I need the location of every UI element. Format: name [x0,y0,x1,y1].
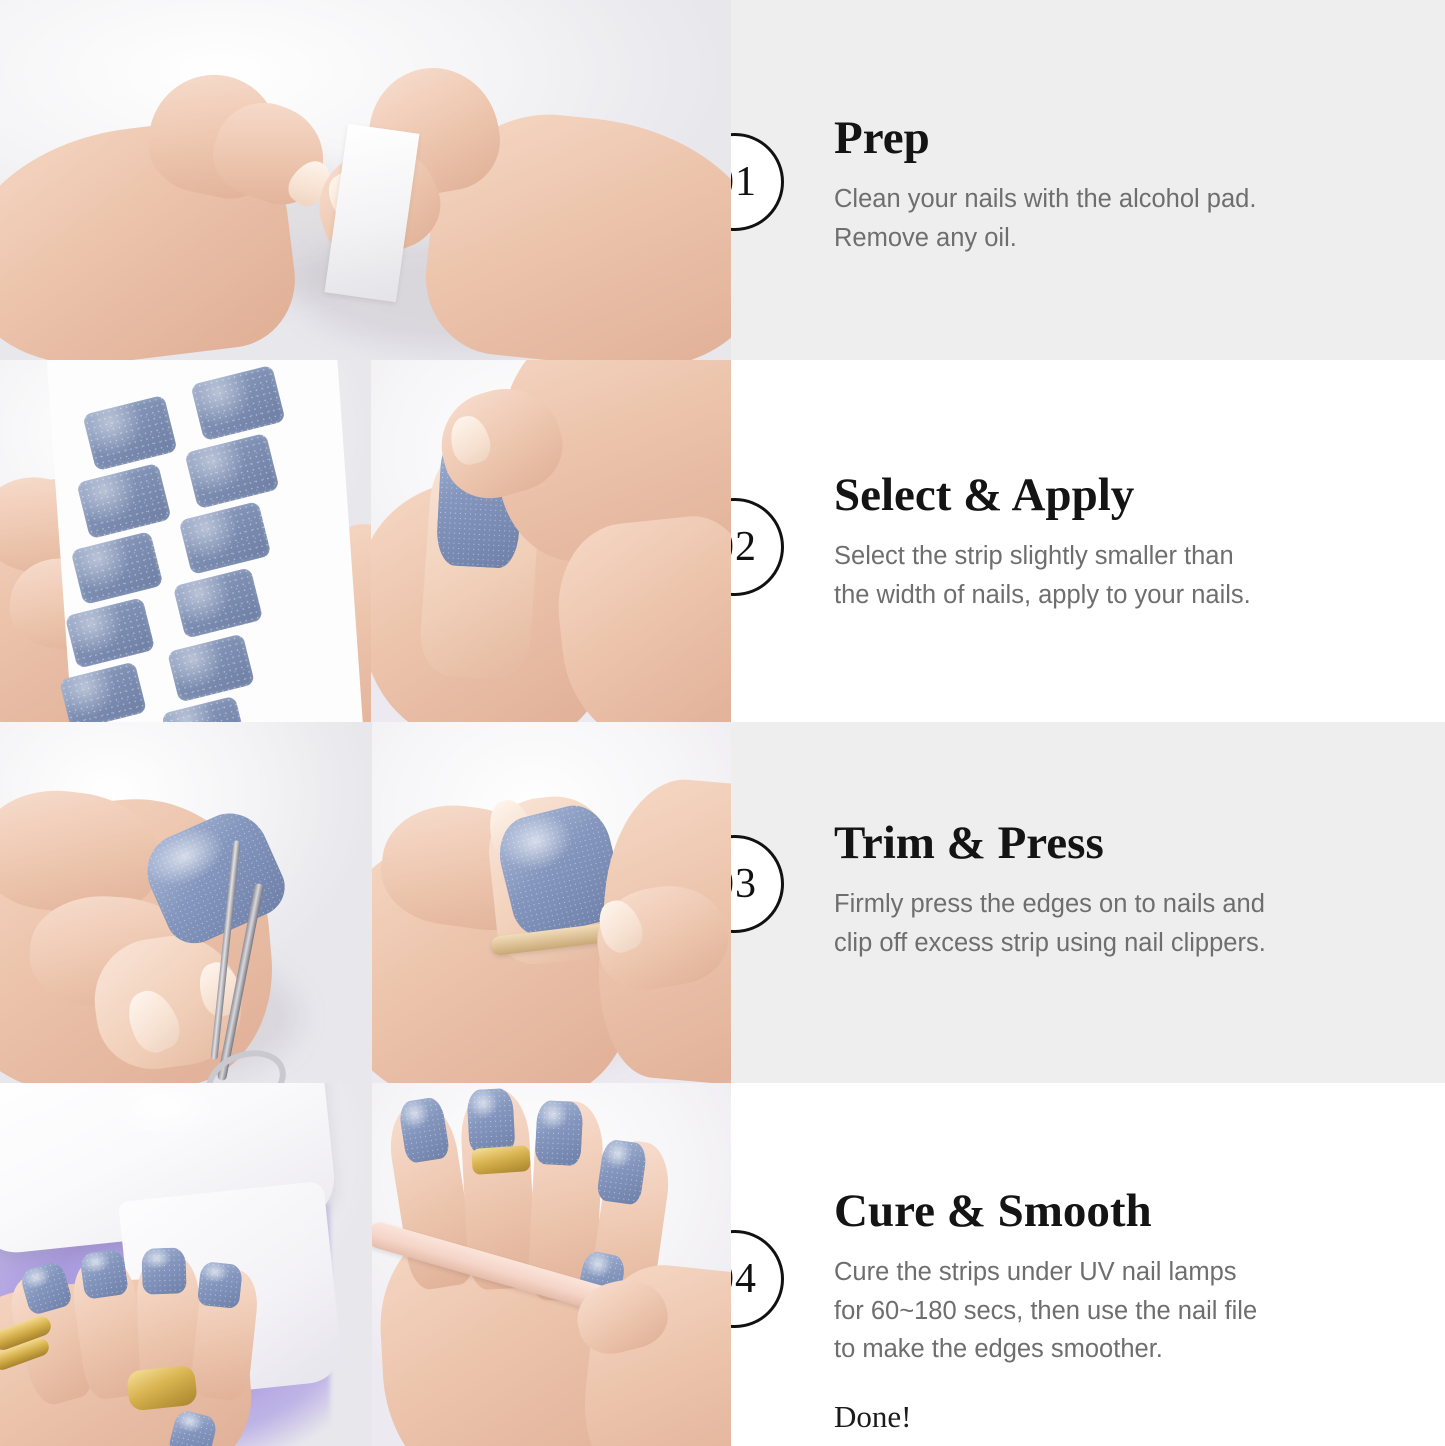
step-number: 04 [731,1255,757,1303]
step-row-1: 01 Prep Clean your nails with the alcoho… [0,0,1445,360]
gold-ring [471,1145,531,1175]
step-4-photo-uv-lamp-curing [0,1083,372,1446]
step-description-line-2: Remove any oil. [834,219,1394,258]
step-title: Trim & Press [834,818,1394,869]
step-description-line-2: the width of nails, apply to your nails. [834,576,1394,615]
finished-nail [466,1088,515,1154]
step-4-text: Cure & Smooth Cure the strips under UV n… [834,1186,1394,1435]
step-3-photo-column [0,722,731,1083]
gold-ring [126,1365,198,1412]
step-4-text-panel: 04 Cure & Smooth Cure the strips under U… [731,1083,1445,1446]
step-title: Cure & Smooth [834,1186,1394,1237]
step-number: 02 [731,523,757,571]
step-4-photo-column [0,1083,731,1446]
step-number: 03 [731,860,757,908]
step-row-2: 02 Select & Apply Select the strip sligh… [0,360,1445,722]
step-2-photo-strip-sheet [0,360,371,722]
step-number: 01 [731,158,757,206]
step-description-line-2: for 60~180 secs, then use the nail file [834,1292,1394,1331]
step-3-photo-press-with-stick [372,722,731,1083]
done-label: Done! [834,1399,1394,1435]
step-badge-01: 01 [731,133,784,231]
step-1-text: Prep Clean your nails with the alcohol p… [834,113,1394,257]
step-4-photo-nail-file-smoothing [372,1083,731,1446]
step-1-photo-column [0,0,731,360]
cured-nail [197,1261,243,1309]
step-description-line-2: clip off excess strip using nail clipper… [834,924,1394,963]
step-description-line-1: Select the strip slightly smaller than [834,537,1394,576]
step-2-text-panel: 02 Select & Apply Select the strip sligh… [731,360,1445,722]
step-3-photo-trim-with-clippers [0,722,372,1083]
step-3-text-panel: 03 Trim & Press Firmly press the edges o… [731,722,1445,1083]
step-title: Select & Apply [834,470,1394,521]
cured-nail [141,1247,187,1295]
finished-nail [534,1100,583,1166]
step-2-photo-column [0,360,731,722]
step-row-3: 03 Trim & Press Firmly press the edges o… [0,722,1445,1083]
step-1-text-panel: 01 Prep Clean your nails with the alcoho… [731,0,1445,360]
cured-nail [79,1248,129,1300]
step-description-line-1: Cure the strips under UV nail lamps [834,1253,1394,1292]
step-title: Prep [834,113,1394,164]
instruction-infographic: 01 Prep Clean your nails with the alcoho… [0,0,1445,1446]
step-description-line-1: Firmly press the edges on to nails and [834,885,1394,924]
step-badge-04: 04 [731,1230,784,1328]
step-row-4: 04 Cure & Smooth Cure the strips under U… [0,1083,1445,1446]
step-description-line-3: to make the edges smoother. [834,1330,1394,1369]
step-1-photo-hands-alcohol-pad [0,0,731,360]
step-badge-02: 02 [731,498,784,596]
step-3-text: Trim & Press Firmly press the edges on t… [834,818,1394,962]
step-badge-03: 03 [731,835,784,933]
step-2-photo-apply-strip [371,360,731,722]
step-description-line-1: Clean your nails with the alcohol pad. [834,180,1394,219]
step-2-text: Select & Apply Select the strip slightly… [834,470,1394,614]
